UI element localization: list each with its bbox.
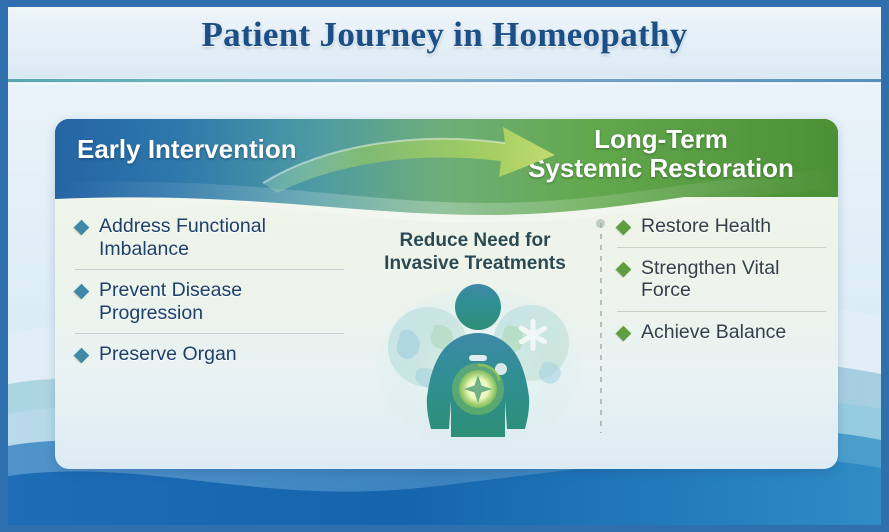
vertical-dashed-divider-icon <box>600 223 602 433</box>
infographic-canvas: Patient Journey in Homeopathy <box>0 0 889 532</box>
list-separator <box>617 247 826 248</box>
list-item[interactable]: Preserve Organ <box>73 343 348 366</box>
list-separator <box>75 333 344 334</box>
list-item-label: Prevent Disease Progression <box>99 279 242 324</box>
diamond-bullet-icon <box>74 284 90 300</box>
infographic-frame: Patient Journey in Homeopathy <box>8 7 881 525</box>
diamond-bullet-icon <box>74 220 90 236</box>
chest-mark-icon <box>469 355 487 361</box>
diamond-bullet-icon <box>616 261 632 277</box>
list-item[interactable]: Strengthen Vital Force <box>615 257 830 302</box>
list-item-label: Restore Health <box>641 215 771 237</box>
list-separator <box>617 311 826 312</box>
list-item-label: Address Functional Imbalance <box>99 215 266 260</box>
progress-arrow <box>255 121 615 201</box>
journey-card: Early Intervention Long-Term Systemic Re… <box>55 119 838 469</box>
list-separator <box>75 269 344 270</box>
title-divider <box>8 79 881 82</box>
human-body-wellness-icon <box>373 269 583 469</box>
diamond-bullet-icon <box>616 220 632 236</box>
diamond-bullet-icon <box>74 348 90 364</box>
card-header-band: Early Intervention Long-Term Systemic Re… <box>55 119 838 197</box>
list-item-label: Achieve Balance <box>641 321 786 343</box>
human-figure-graphic <box>373 269 583 469</box>
center-callout-line-1: Reduce Need for <box>400 230 551 251</box>
right-column: Restore Health Strengthen Vital Force Ac… <box>615 215 830 345</box>
list-item-label: Preserve Organ <box>99 343 237 365</box>
list-item[interactable]: Achieve Balance <box>615 321 830 344</box>
diamond-bullet-icon <box>616 326 632 342</box>
list-item-label: Strengthen Vital Force <box>641 257 779 302</box>
list-item[interactable]: Restore Health <box>615 215 830 238</box>
curved-right-arrow-icon <box>255 121 615 201</box>
list-item[interactable]: Prevent Disease Progression <box>73 279 348 324</box>
left-column: Address Functional Imbalance Prevent Dis… <box>73 215 348 368</box>
title-band: Patient Journey in Homeopathy <box>8 7 881 78</box>
page-title: Patient Journey in Homeopathy <box>8 15 881 55</box>
list-item[interactable]: Address Functional Imbalance <box>73 215 348 260</box>
